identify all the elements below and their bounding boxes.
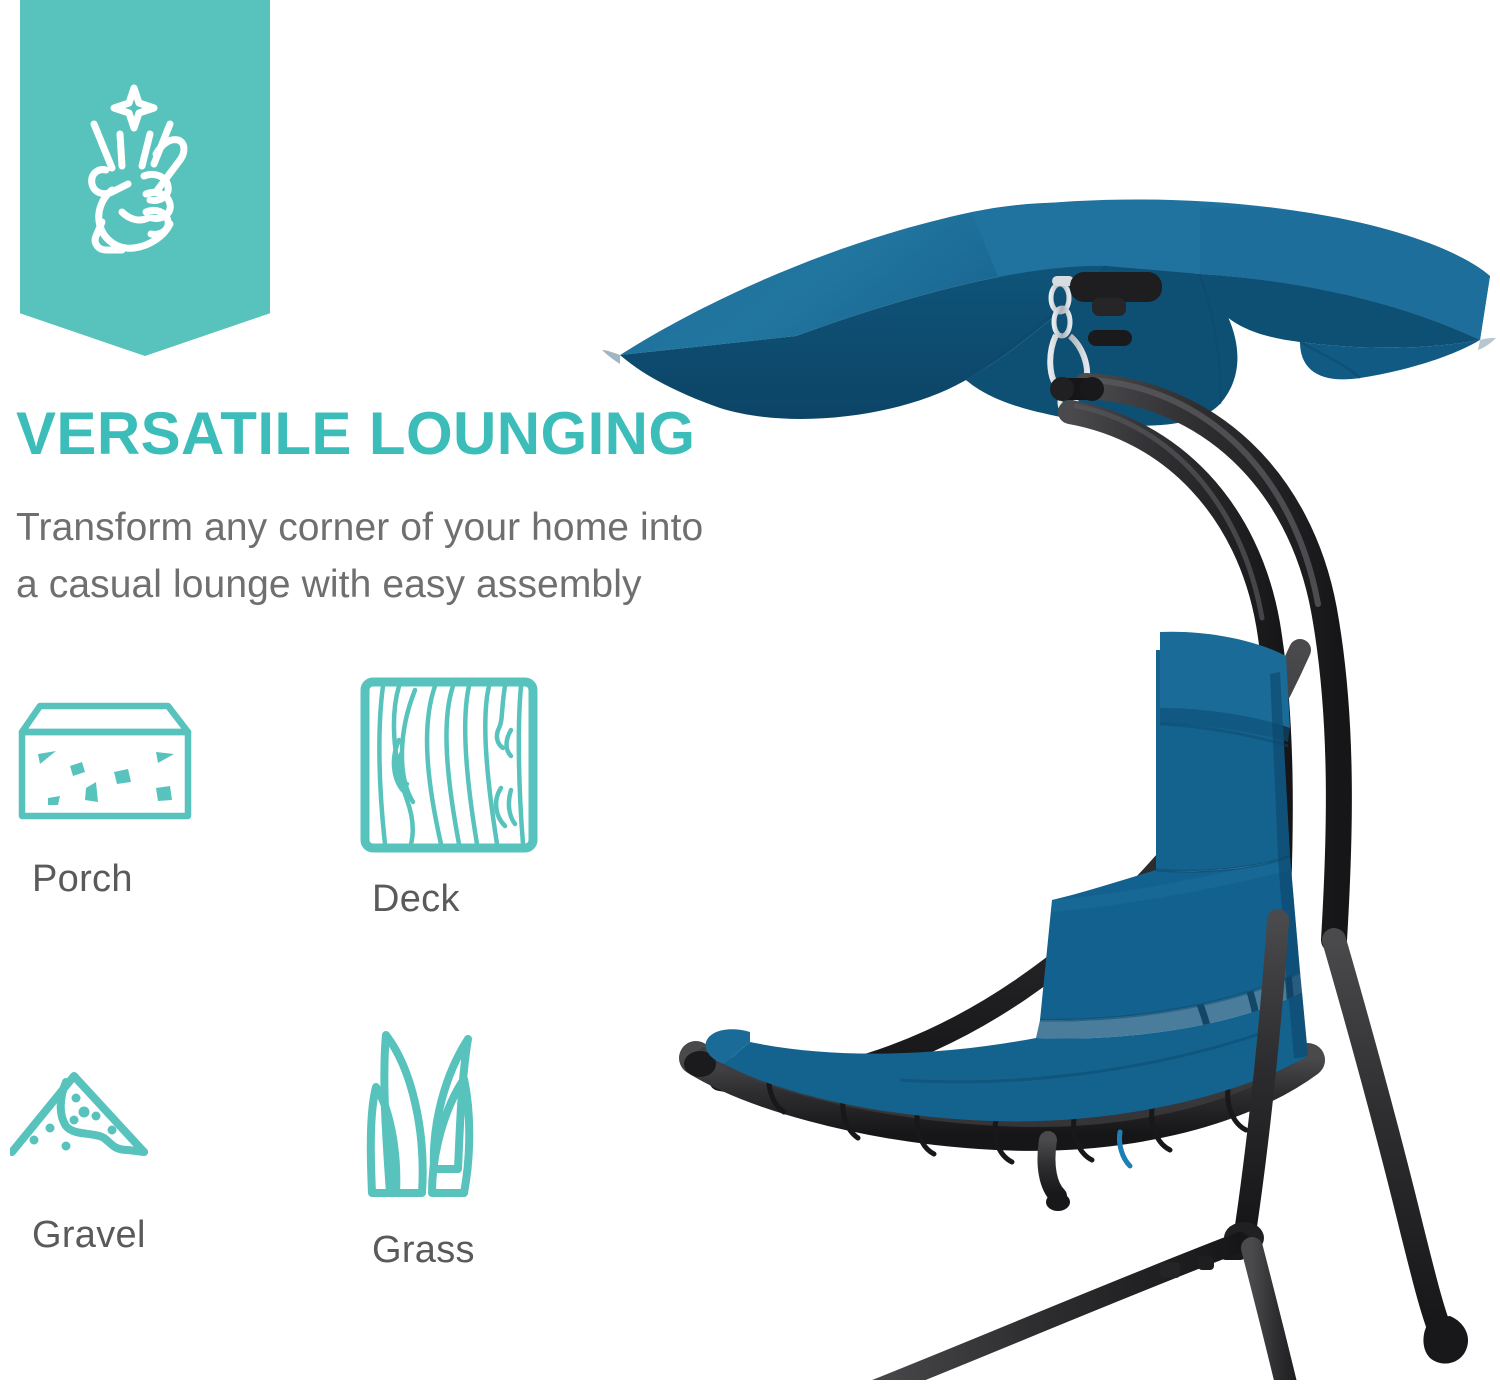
seat-cushion (706, 632, 1308, 1122)
feature-item-porch: Porch (10, 690, 290, 901)
feature-label-grass: Grass (350, 1229, 630, 1272)
marketing-image: VERSATILE LOUNGING Transform any corner … (0, 0, 1500, 1389)
product-image-hanging-chaise-lounge (600, 180, 1500, 1380)
feature-item-gravel: Gravel (10, 1050, 290, 1257)
wood-grain-icon (350, 670, 550, 860)
grass-blades-icon (350, 1025, 550, 1215)
surface-compatibility-list: Porch (0, 670, 620, 1370)
seat-support-stub-cap (1046, 1193, 1070, 1211)
snap-fingers-icon (72, 72, 218, 262)
page-title: VERSATILE LOUNGING (16, 404, 695, 464)
feature-item-grass: Grass (350, 1025, 630, 1272)
gravel-mound-icon (10, 1050, 210, 1200)
canopy (602, 200, 1496, 426)
feature-label-gravel: Gravel (10, 1214, 290, 1257)
product-illustration (600, 180, 1500, 1380)
feature-label-porch: Porch (10, 858, 290, 901)
feature-banner (20, 0, 270, 356)
feature-item-deck: Deck (350, 670, 630, 921)
concrete-slab-icon (10, 690, 210, 840)
feature-label-deck: Deck (350, 878, 630, 921)
